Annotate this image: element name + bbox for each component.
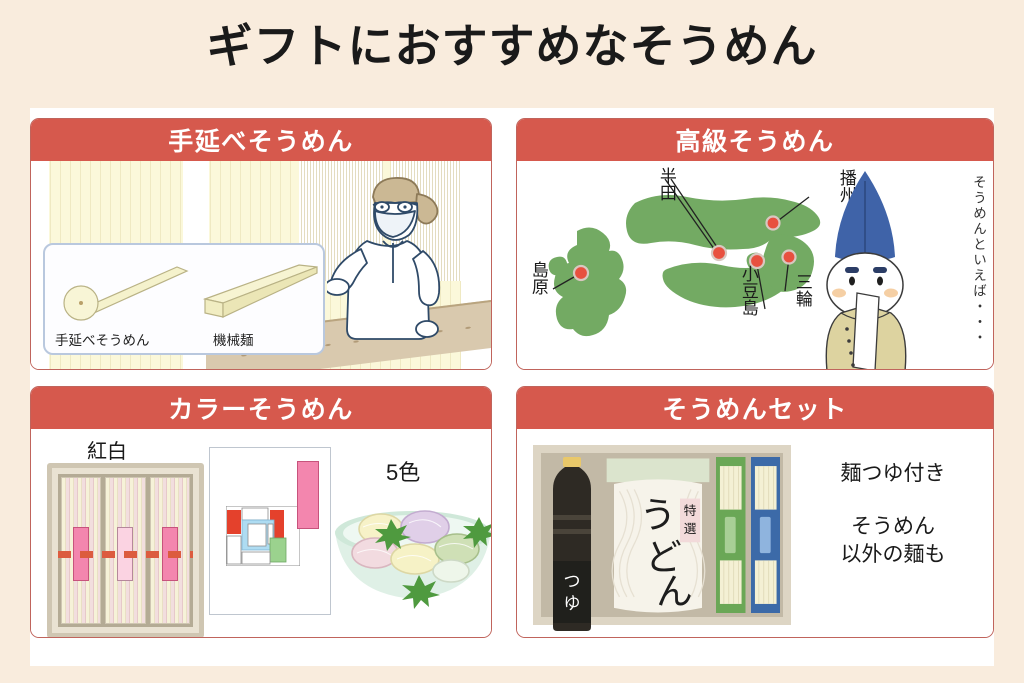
flat-noodle-label: 機械麺 [213, 329, 254, 349]
panel-color-header: カラーそうめん [31, 387, 491, 429]
set-note-other-noodles-line1: そうめん [803, 513, 983, 541]
panel-tenobe-body: 手延べそうめん 機械麺 [31, 161, 491, 369]
panel-set-title: そうめんセット [662, 390, 848, 426]
noodle-worker-illustration [327, 163, 477, 369]
round-noodle-label: 手延べそうめん [55, 329, 150, 349]
tsuyu-bottle-label-char1: つ [564, 572, 581, 591]
tokusen-badge-char1: 特 [684, 504, 697, 518]
five-color-label: 5色 [386, 455, 420, 487]
round-noodle-diagram [59, 259, 189, 321]
set-note-other-noodles-line2: 以外の麺も [803, 541, 983, 569]
page-title: ギフトにおすすめなそうめん [0, 14, 1024, 78]
japan-region-map [517, 161, 837, 369]
map-label-handa: 半田 [657, 167, 675, 201]
side-pack-green [716, 457, 746, 613]
court-noble-illustration [795, 167, 935, 369]
tsuyu-bottle-label-char2: ゆ [564, 594, 581, 613]
set-note-tsuyu-included: 麺つゆ付き [803, 457, 983, 487]
panel-color-soumen[interactable]: カラーそうめん 紅白 [30, 386, 492, 638]
side-pack-blue [751, 457, 781, 613]
panel-tenobe-header: 手延べそうめん [31, 119, 491, 161]
panel-color-title: カラーそうめん [168, 390, 354, 426]
panel-kokyu-title: 高級そうめん [675, 122, 834, 158]
udon-name-char1: う [640, 495, 677, 536]
tsuyu-bottle-slot: つ ゆ [541, 453, 603, 617]
panel-tenobe-soumen[interactable]: 手延べそうめん [30, 118, 492, 370]
soumen-saying-caption: そうめんといえば・・・ [972, 175, 986, 361]
panel-kokyu-body: 半田 島原 小豆島 播州 三輪 [517, 161, 993, 369]
side-noodle-packs [713, 453, 783, 617]
udon-name-char3: ん [656, 571, 693, 612]
set-notes: 麺つゆ付き そうめん 以外の麺も [803, 457, 983, 570]
udon-package: う ど ん 特 選 [603, 453, 713, 617]
gift-box-tie [58, 551, 193, 558]
flat-noodle-diagram [195, 259, 321, 321]
tsuyu-bottle: つ ゆ [541, 453, 603, 633]
infographic-root: ギフトにおすすめなそうめん 手延べそうめん [0, 0, 1024, 683]
kohaku-gift-box [47, 463, 204, 637]
panel-color-body: 紅白 [31, 429, 491, 637]
panel-set-body: つ ゆ [517, 429, 993, 637]
pink-noodle-band [297, 461, 319, 529]
tokusen-badge-char2: 選 [684, 522, 697, 536]
map-label-shimabara: 島原 [529, 261, 547, 295]
soumen-gift-set-box: つ ゆ [533, 445, 791, 625]
kohaku-label: 紅白 [87, 435, 127, 464]
map-label-shodoshima: 小豆島 [739, 265, 757, 316]
udon-package-slot: う ど ん 特 選 [603, 453, 713, 617]
panel-kokyu-header: 高級そうめん [517, 119, 993, 161]
panel-kokyu-soumen[interactable]: 高級そうめん [516, 118, 994, 370]
panel-tenobe-title: 手延べそうめん [168, 122, 354, 158]
noodle-comparison-inset: 手延べそうめん 機械麺 [43, 243, 325, 355]
set-box-interior: つ ゆ [541, 453, 783, 617]
panel-set-header: そうめんセット [517, 387, 993, 429]
panel-soumen-set[interactable]: そうめんセット つ ゆ [516, 386, 994, 638]
five-color-noodle-bowl [327, 487, 491, 623]
mini-gift-graphic [226, 506, 300, 566]
